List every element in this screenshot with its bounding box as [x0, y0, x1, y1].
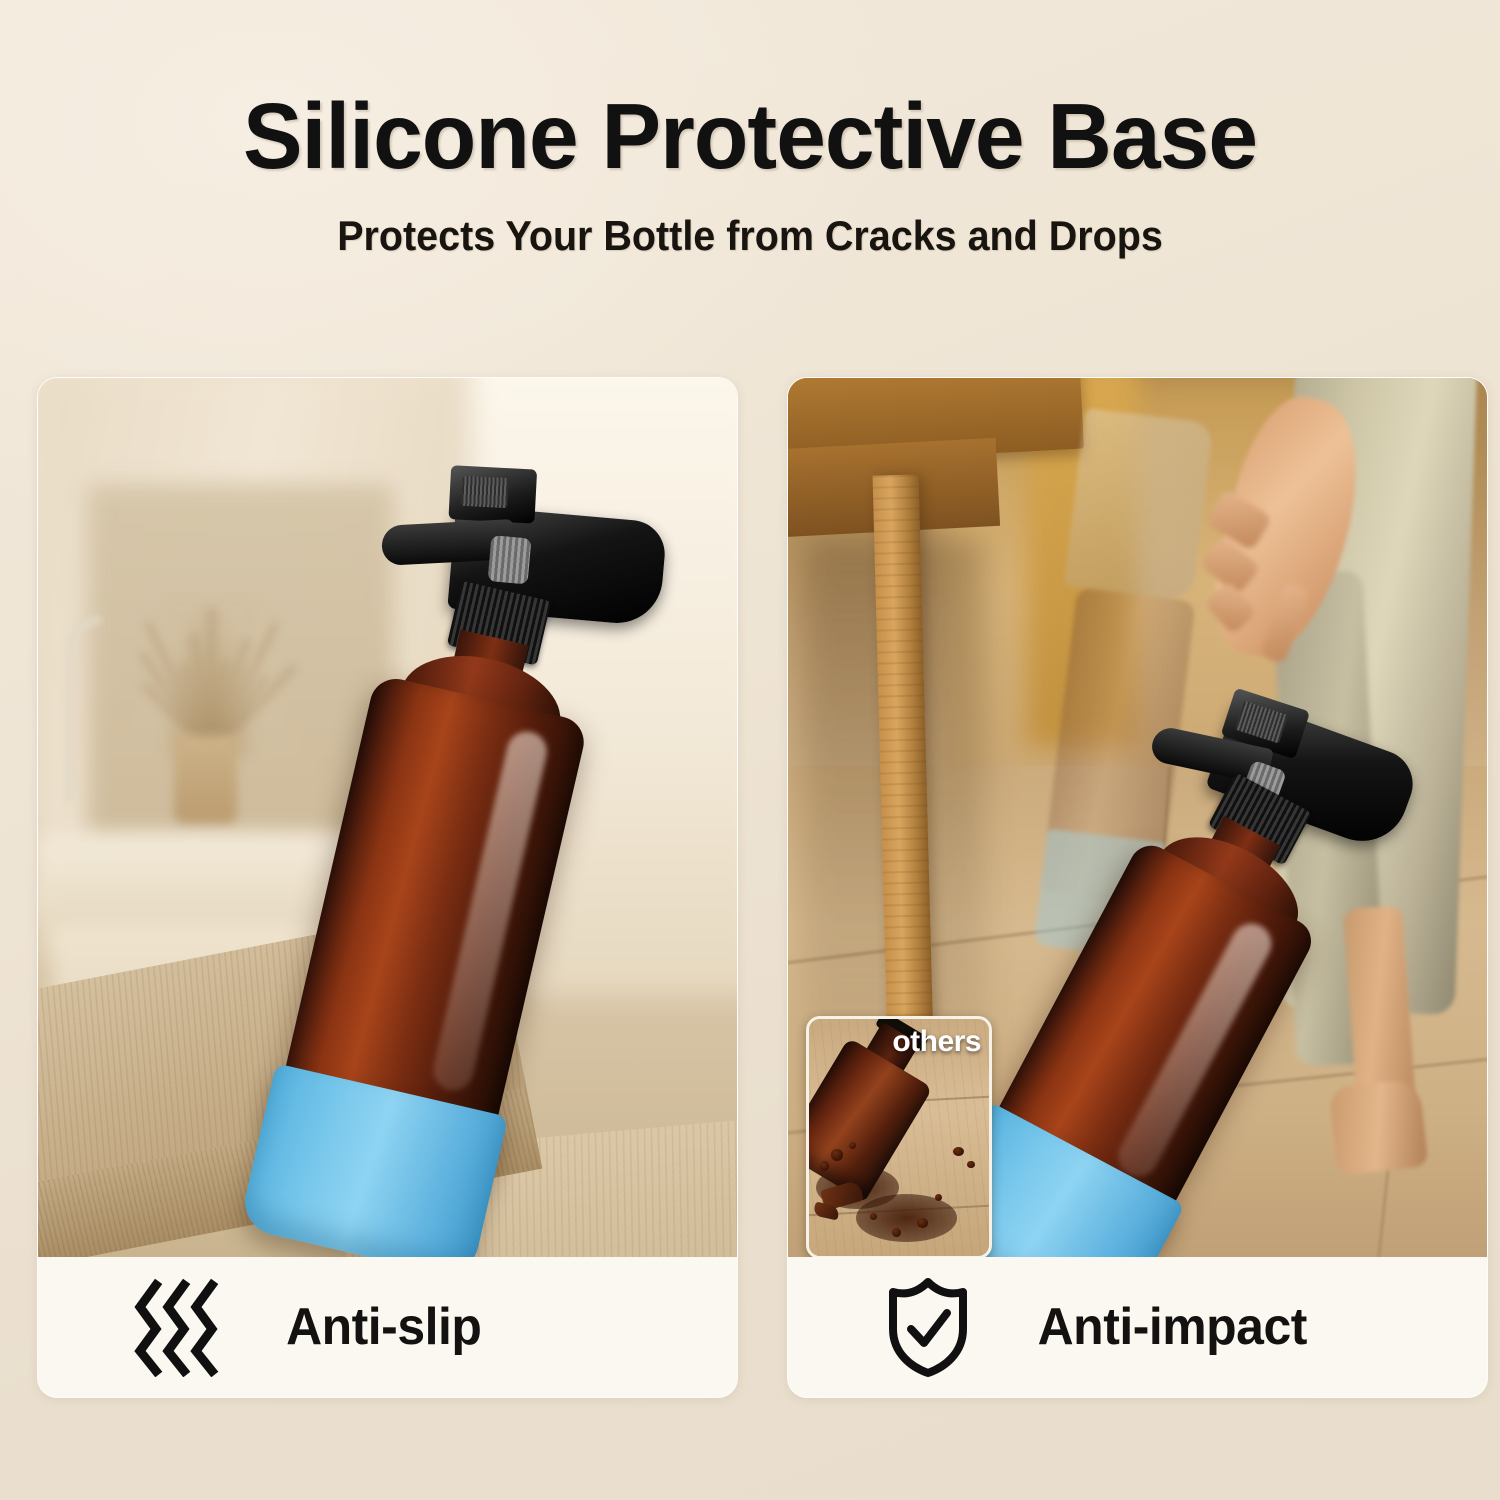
anti-impact-caption-bar: Anti-impact [788, 1257, 1487, 1397]
anti-impact-photo: others [788, 378, 1487, 1259]
person-bare-foot [1329, 1078, 1429, 1175]
ghost-trigger-head [1063, 408, 1213, 602]
spill-droplet [820, 1161, 829, 1170]
spill-droplet [967, 1161, 974, 1168]
spray-nozzle [448, 465, 537, 523]
spill-droplet [917, 1218, 928, 1227]
panel-anti-slip: Anti-slip [37, 377, 738, 1398]
others-comparison-inset: others [806, 1016, 992, 1259]
page-title: Silicone Protective Base [30, 88, 1470, 186]
anti-slip-label: Anti-slip [286, 1297, 481, 1357]
anti-impact-label: Anti-impact [1038, 1297, 1307, 1357]
panel-anti-impact: others Anti-impact [787, 377, 1488, 1398]
kitchen-plant-pot [174, 735, 237, 823]
page-subtitle: Protects Your Bottle from Cracks and Dro… [45, 212, 1455, 260]
kitchen-faucet [66, 616, 101, 801]
anti-slip-photo [38, 378, 737, 1259]
wavy-lines-icon [134, 1277, 222, 1377]
spill-droplet [892, 1228, 901, 1237]
others-label: others [892, 1025, 981, 1059]
kitchen-plant [164, 598, 255, 757]
shield-check-icon [884, 1277, 972, 1377]
anti-slip-caption-bar: Anti-slip [38, 1257, 737, 1397]
header: Silicone Protective Base Protects Your B… [0, 0, 1500, 260]
trigger-pivot [488, 535, 532, 584]
product-infographic: Silicone Protective Base Protects Your B… [0, 0, 1500, 1500]
